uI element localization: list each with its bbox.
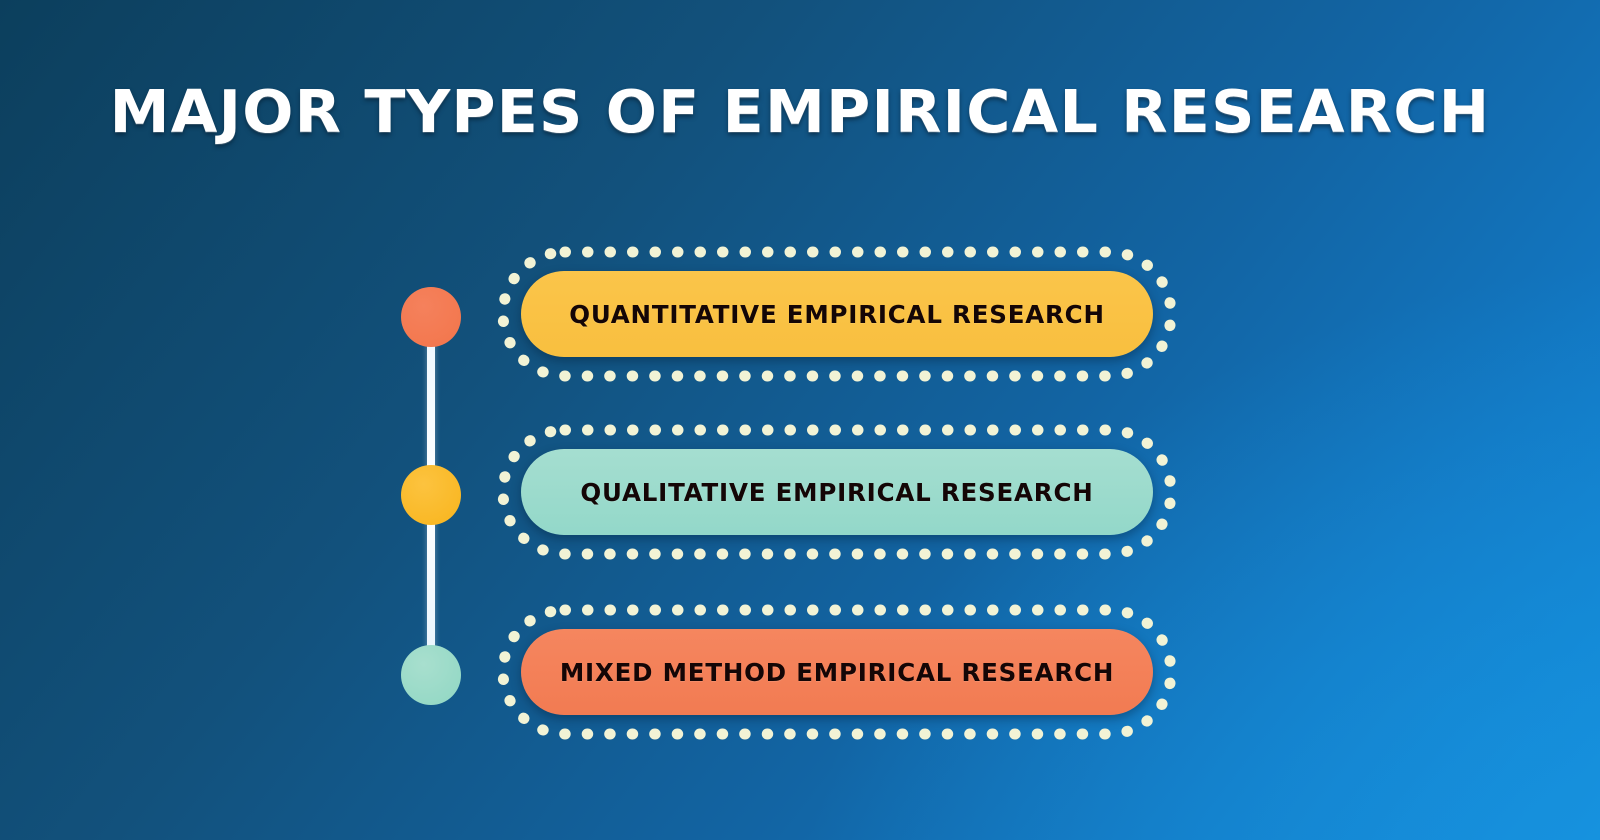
timeline-node-quantitative [401,287,461,347]
infographic-canvas: MAJOR TYPES OF EMPIRICAL RESEARCH QUANTI… [0,0,1600,840]
page-title: MAJOR TYPES OF EMPIRICAL RESEARCH [0,82,1600,141]
pill-quantitative[interactable]: QUANTITATIVE EMPIRICAL RESEARCH [521,271,1153,357]
timeline-node-mixed-method [401,645,461,705]
timeline-node-qualitative [401,465,461,525]
list-item[interactable]: MIXED METHOD EMPIRICAL RESEARCH [497,604,1177,740]
pill-label: QUALITATIVE EMPIRICAL RESEARCH [580,478,1093,507]
list-item[interactable]: QUANTITATIVE EMPIRICAL RESEARCH [497,246,1177,382]
pill-mixed-method[interactable]: MIXED METHOD EMPIRICAL RESEARCH [521,629,1153,715]
pill-qualitative[interactable]: QUALITATIVE EMPIRICAL RESEARCH [521,449,1153,535]
pill-label: QUANTITATIVE EMPIRICAL RESEARCH [569,300,1105,329]
list-item[interactable]: QUALITATIVE EMPIRICAL RESEARCH [497,424,1177,560]
pill-label: MIXED METHOD EMPIRICAL RESEARCH [560,658,1114,687]
